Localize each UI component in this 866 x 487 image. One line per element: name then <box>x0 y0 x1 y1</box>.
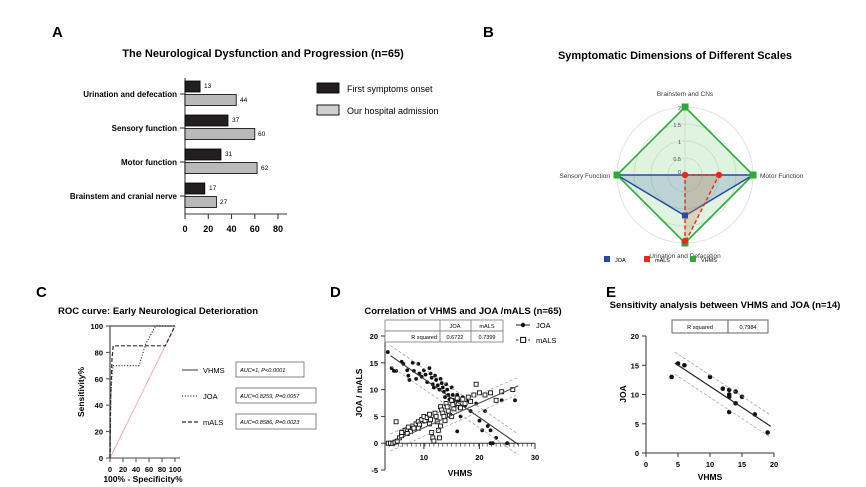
roc-y-tick-label: 80 <box>95 348 103 357</box>
roc-x-axis-title: 100% - Specificity% <box>103 474 183 484</box>
e-x-tick-label: 0 <box>644 460 648 469</box>
d-y-ticks <box>381 336 385 470</box>
radar-axis-label-sensory: Sensory Function <box>559 173 610 180</box>
x-tick-label: 80 <box>273 224 283 234</box>
d-y-axis-title: JOA / mALS <box>354 368 364 417</box>
radar-tick-label: 0.5 <box>673 157 681 163</box>
panel-c-letter: C <box>36 284 47 302</box>
auc-text-mals: AUC=0.8586, P=0.0023 <box>239 420 300 426</box>
roc-y-tick-label: 20 <box>95 428 103 437</box>
e-points <box>669 361 770 435</box>
e-fit-lines <box>675 352 771 437</box>
roc-legend-label-vhms: VHMS <box>203 366 225 375</box>
radar-tick-label: 1 <box>678 140 681 146</box>
auc-text-joa: AUC=0.8259, P=0.0057 <box>239 394 300 400</box>
radar-legend-svg: JOA mALS VHMS <box>600 252 760 266</box>
panel-b-title: Symptomatic Dimensions of Different Scal… <box>510 50 840 62</box>
x-tick-label: 20 <box>203 224 213 234</box>
roc-legend-label-joa: JOA <box>203 392 218 401</box>
panel-a-chart: Urination and defecation Sensory functio… <box>52 66 462 241</box>
x-tick-label: 40 <box>226 224 236 234</box>
x-tick-label: 0 <box>182 224 187 234</box>
auc-text-vhms: AUC=1, P<0.0001 <box>239 368 285 374</box>
d-y-tick-label: 0 <box>374 439 378 448</box>
legend-swatch-joa <box>604 256 610 262</box>
category-label: Motor function <box>121 158 177 167</box>
radar-chart-svg: 2 1.5 1 0.5 0 Brainstem and CNs Motor Fu… <box>545 80 835 265</box>
d-y-tick-label: 5 <box>374 412 378 421</box>
bar-value: 62 <box>261 165 269 172</box>
radar-axis-label-brainstem: Brainstem and CNs <box>657 91 714 98</box>
panel-a-title: The Neurological Dysfunction and Progres… <box>68 48 458 60</box>
e-x-axis-title: VHMS <box>698 472 723 482</box>
radar-tick-label: 0 <box>678 170 681 176</box>
panel-b-legend: JOA mALS VHMS <box>600 252 760 266</box>
panel-c-chart: 0 20 40 60 80 100 0 20 40 60 80 100 100%… <box>40 318 320 483</box>
panel-c-title: ROC curve: Early Neurological Deteriorat… <box>38 306 278 317</box>
legend-label-mals: mALS <box>655 258 670 264</box>
roc-chart-svg: 0 20 40 60 80 100 0 20 40 60 80 100 100%… <box>40 318 320 483</box>
e-x-tick-label: 5 <box>676 460 680 469</box>
roc-y-axis-title: Sensitivity% <box>76 367 86 418</box>
e-rsquared-table: R squared 0.7984 <box>672 320 768 333</box>
d-series-legend: JOA mALS <box>516 321 556 345</box>
category-label: Sensory function <box>112 124 177 133</box>
legend-swatch-vhms <box>690 256 696 262</box>
radar-point-joa <box>682 213 688 219</box>
bar-hospital-admission <box>185 129 255 140</box>
panel-b-chart: 2 1.5 1 0.5 0 Brainstem and CNs Motor Fu… <box>545 80 835 265</box>
d-x-tick-label: 20 <box>475 453 483 462</box>
d-x-minor-ticks <box>385 443 535 449</box>
e-table-value: 0.7984 <box>739 325 756 331</box>
e-x-tick-label: 20 <box>770 460 778 469</box>
d-fit-lines <box>391 345 519 454</box>
roc-x-tick-label: 20 <box>119 465 127 474</box>
panel-d-chart: 20 15 10 5 0 -5 10 20 30 VHMS JOA / mALS… <box>340 318 610 486</box>
d-table-row-header: R squared <box>411 335 437 341</box>
d-y-tick-label: 20 <box>370 332 378 341</box>
radar-axis-label-motor: Motor Function <box>760 173 804 180</box>
correlation-chart-svg: 20 15 10 5 0 -5 10 20 30 VHMS JOA / mALS… <box>340 318 610 486</box>
bar-value: 44 <box>240 97 248 104</box>
bar-value: 27 <box>220 199 228 206</box>
radar-tick-label: 1.5 <box>673 123 681 129</box>
bar-hospital-admission <box>185 95 236 106</box>
legend-label-joa: JOA <box>615 258 626 264</box>
e-y-tick-label: 10 <box>631 391 639 400</box>
radar-tick-label: 2 <box>678 106 681 112</box>
roc-x-tick-label: 40 <box>132 465 140 474</box>
d-rsquared-table: JOA mALS R squared 0.6722 0.7399 <box>385 320 503 342</box>
legend-swatch-mals <box>644 256 650 262</box>
d-x-tick-label: 10 <box>420 453 428 462</box>
roc-x-ticks <box>110 458 175 462</box>
roc-x-tick-label: 60 <box>145 465 153 474</box>
e-x-ticks <box>646 453 774 457</box>
radar-point-mals <box>682 172 688 178</box>
d-table-value-mals: 0.7399 <box>478 335 495 341</box>
category-label: Urination and defecation <box>83 90 177 99</box>
d-y-tick-label: 10 <box>370 386 378 395</box>
bar-value: 31 <box>225 151 233 158</box>
radar-point-mals <box>682 238 688 244</box>
d-y-tick-label: -5 <box>371 466 378 475</box>
e-x-tick-label: 15 <box>738 460 746 469</box>
roc-x-tick-label: 0 <box>108 465 112 474</box>
radar-point-vhms <box>614 172 621 179</box>
bar-hospital-admission <box>185 163 257 174</box>
radar-point-vhms <box>682 104 689 111</box>
x-tick-label: 60 <box>250 224 260 234</box>
x-ticks <box>185 214 278 219</box>
e-y-tick-label: 5 <box>635 420 639 429</box>
bar-first-onset <box>185 183 205 194</box>
d-legend-label-mals: mALS <box>536 336 556 345</box>
legend-swatch-first-onset <box>317 83 339 93</box>
d-y-tick-label: 15 <box>370 359 378 368</box>
e-y-tick-label: 0 <box>635 449 639 458</box>
d-x-axis-title: VHMS <box>448 468 473 478</box>
sensitivity-chart-svg: 0 5 10 15 20 0 5 10 15 20 VHMS JOA R squ… <box>604 318 854 483</box>
bar-value: 60 <box>258 131 266 138</box>
e-y-ticks <box>642 336 646 453</box>
radar-point-mals <box>716 172 722 178</box>
category-ticks <box>180 94 185 196</box>
category-label: Brainstem and cranial nerve <box>70 192 178 201</box>
legend-swatch-hospital-admission <box>317 105 339 115</box>
legend-label-vhms: VHMS <box>701 258 717 264</box>
roc-y-tick-label: 0 <box>99 454 103 463</box>
e-x-tick-label: 10 <box>706 460 714 469</box>
bar-first-onset <box>185 81 200 92</box>
bar-hospital-admission <box>185 197 216 208</box>
roc-y-tick-label: 100 <box>90 322 103 331</box>
panel-e-chart: 0 5 10 15 20 0 5 10 15 20 VHMS JOA R squ… <box>604 318 854 483</box>
bar-first-onset <box>185 115 228 126</box>
panel-b-letter: B <box>483 24 494 42</box>
e-y-tick-label: 15 <box>631 361 639 370</box>
legend-label: Our hospital admission <box>347 106 439 116</box>
bar-value: 13 <box>204 83 212 90</box>
d-table-value-joa: 0.6722 <box>446 335 463 341</box>
e-y-tick-label: 20 <box>631 332 639 341</box>
d-table-col-joa: JOA <box>450 324 461 330</box>
d-x-tick-label: 30 <box>531 453 539 462</box>
radar-point-vhms <box>750 172 757 179</box>
bar-first-onset <box>185 149 221 160</box>
roc-y-tick-label: 40 <box>95 401 103 410</box>
bar-chart-svg: Urination and defecation Sensory functio… <box>52 66 462 241</box>
bar-value: 37 <box>232 117 240 124</box>
d-table-col-mals: mALS <box>479 324 495 330</box>
e-table-row-header: R squared <box>687 325 713 331</box>
panel-e-title: Sensitivity analysis between VHMS and JO… <box>600 300 850 311</box>
e-y-axis-title: JOA <box>618 385 628 402</box>
bar-value: 17 <box>209 185 217 192</box>
legend-label: First symptoms onset <box>347 84 433 94</box>
panel-a-letter: A <box>52 24 63 42</box>
d-legend-label-joa: JOA <box>536 321 551 330</box>
panel-d-title: Correlation of VHMS and JOA /mALS (n=65) <box>338 306 588 317</box>
roc-y-tick-label: 60 <box>95 375 103 384</box>
roc-x-tick-label: 80 <box>158 465 166 474</box>
roc-legend-label-mals: mALS <box>203 418 223 427</box>
roc-x-tick-label: 100 <box>169 465 182 474</box>
panel-d-letter: D <box>330 284 341 302</box>
